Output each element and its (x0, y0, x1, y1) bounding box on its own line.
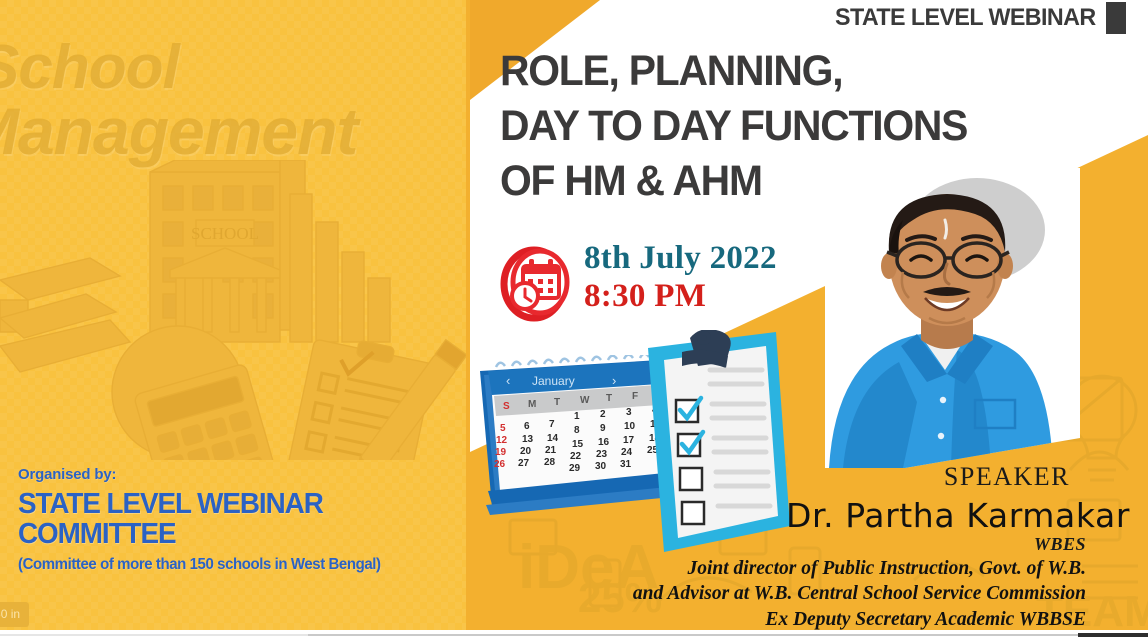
right-content-panel: iDeA 25% 15% TEAM 3 STATE LEVEL WEBINAR (470, 0, 1148, 630)
calendar-weekday: S (503, 401, 510, 412)
watermark-line-1: School (0, 33, 179, 102)
calendar-weekday: W (580, 395, 590, 406)
dark-block-icon (1106, 2, 1126, 34)
organiser-name: STATE LEVEL WEBINAR COMMITTEE (18, 489, 450, 549)
svg-text:30: 30 (595, 461, 607, 472)
dimension-tooltip: × 750 in (0, 602, 29, 627)
clipboard-checklist-icon (638, 330, 798, 565)
svg-text:15: 15 (572, 439, 584, 450)
speaker-label: SPEAKER (944, 462, 1070, 492)
chrome-dark-tick (1078, 633, 1148, 637)
calendar-month: January (532, 374, 575, 388)
svg-text:5: 5 (500, 423, 506, 434)
school-supplies-watermark-art: SCHOOL (0, 160, 470, 460)
calendar-clock-icon (500, 240, 574, 324)
webinar-date: 8th July 2022 (584, 240, 777, 277)
school-management-watermark: School Management (0, 38, 470, 163)
svg-text:26: 26 (494, 459, 506, 470)
svg-text:7: 7 (549, 419, 555, 430)
calendar-next-arrow: › (612, 373, 616, 388)
bottom-chrome-strip (0, 630, 1148, 642)
svg-text:13: 13 (522, 434, 534, 445)
calendar-weekday: M (528, 399, 536, 410)
svg-text:2: 2 (600, 409, 606, 420)
svg-text:24: 24 (621, 447, 633, 458)
svg-text:22: 22 (570, 451, 582, 462)
watermark-school-label: SCHOOL (191, 224, 259, 243)
svg-text:8: 8 (574, 425, 580, 436)
title-line-1: ROLE, PLANNING, (500, 44, 1051, 99)
svg-text:23: 23 (596, 449, 608, 460)
svg-text:6: 6 (524, 421, 530, 432)
svg-text:31: 31 (620, 459, 632, 470)
left-yellow-panel: School Management (0, 0, 470, 630)
speaker-name: Dr. Partha Karmakar (786, 496, 1130, 535)
svg-text:29: 29 (569, 463, 581, 474)
chrome-right-rule (308, 634, 1148, 636)
speaker-designation-2: and Advisor at W.B. Central School Servi… (633, 581, 1086, 606)
webinar-poster: School Management (0, 0, 1148, 642)
checkbox-row (680, 468, 702, 490)
schedule-block: 8th July 2022 8:30 PM (500, 238, 777, 324)
svg-text:14: 14 (547, 433, 559, 444)
svg-text:9: 9 (600, 423, 606, 434)
speaker-designation-3: Ex Deputy Secretary Academic WBBSE (633, 607, 1086, 630)
speaker-cadre: WBES (1034, 534, 1086, 555)
svg-text:17: 17 (623, 435, 635, 446)
speaker-designation-1: Joint director of Public Instruction, Go… (633, 556, 1086, 581)
organised-by-label: Organised by: (18, 466, 468, 483)
checkbox-row (678, 432, 703, 456)
organiser-subtitle: (Committee of more than 150 schools in W… (18, 556, 455, 574)
checkbox-row (676, 398, 701, 422)
svg-text:10: 10 (624, 421, 636, 432)
webinar-time: 8:30 PM (584, 277, 777, 315)
svg-text:21: 21 (545, 445, 557, 456)
chrome-left-rule (0, 634, 308, 636)
svg-text:27: 27 (518, 458, 530, 469)
svg-text:1: 1 (574, 411, 580, 422)
svg-text:28: 28 (544, 457, 556, 468)
svg-text:16: 16 (598, 437, 610, 448)
speaker-designations: Joint director of Public Instruction, Go… (633, 556, 1086, 630)
title-line-2: DAY TO DAY FUNCTIONS (500, 99, 1051, 154)
calendar-weekday: T (554, 397, 560, 408)
svg-text:19: 19 (495, 447, 507, 458)
watermark-line-2: Management (0, 99, 470, 164)
calendar-prev-arrow: ‹ (506, 373, 510, 388)
svg-text:3: 3 (626, 407, 632, 418)
page-title: STATE LEVEL WEBINAR (835, 4, 1096, 32)
speaker-portrait (825, 168, 1080, 468)
svg-text:20: 20 (520, 446, 532, 457)
checkbox-row (682, 502, 704, 524)
svg-text:12: 12 (496, 435, 508, 446)
organiser-block: Organised by: STATE LEVEL WEBINAR COMMIT… (18, 466, 468, 574)
calendar-weekday: T (606, 393, 612, 404)
